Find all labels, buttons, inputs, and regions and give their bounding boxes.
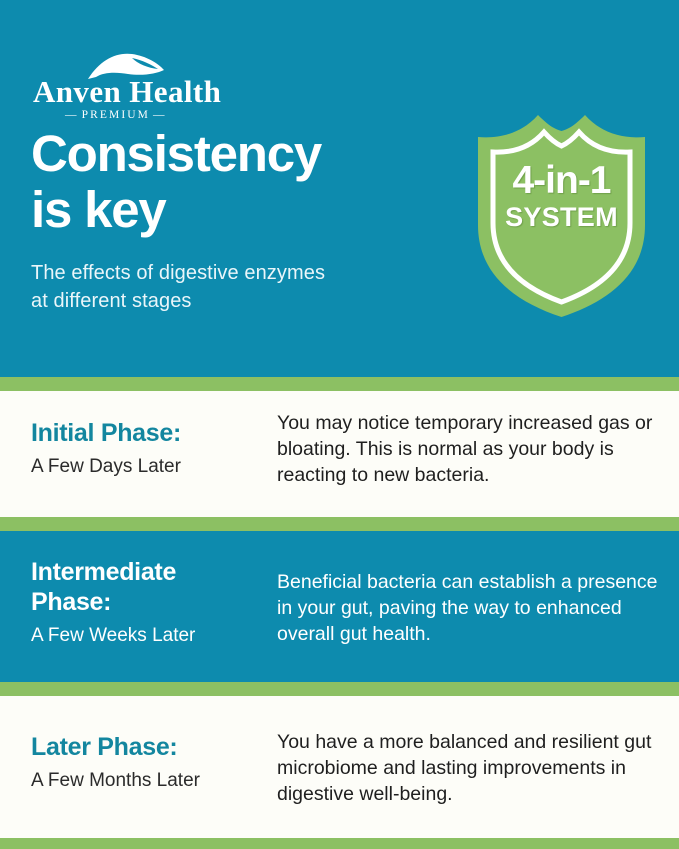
shield-badge: 4-in-1 SYSTEM [470,105,665,320]
phase-section-later: Later Phase: A Few Months Later You have… [0,696,679,838]
phase-section-intermediate: Intermediate Phase: A Few Weeks Later Be… [0,531,679,682]
brand-tagline: —PREMIUM— [62,109,170,121]
page-subtitle: The effects of digestive enzymes at diff… [31,259,431,315]
page-title-line-2: is key [31,182,431,238]
badge-main-label: 4-in-1 [470,160,653,202]
badge-sub-label: SYSTEM [470,202,653,232]
divider-band-1 [0,377,679,391]
tagline-text: PREMIUM [82,109,150,121]
divider-band-3 [0,682,679,696]
page-title-line-1: Consistency [31,126,431,182]
hero-banner: Anven Health —PREMIUM— Consistency is ke… [0,0,679,377]
phase-timeframe: A Few Days Later [31,455,266,479]
divider-band-2 [0,517,679,531]
divider-band-bottom [0,838,679,849]
phase-title: Intermediate Phase: [31,557,266,617]
badge-text: 4-in-1 SYSTEM [470,160,653,232]
phase-description: You may notice temporary increased gas o… [277,410,659,488]
phase-title: Later Phase: [31,732,266,762]
page-subtitle-line-1: The effects of digestive enzymes [31,259,431,287]
phase-description: Beneficial bacteria can establish a pres… [277,569,659,647]
page-subtitle-line-2: at different stages [31,287,431,315]
phase-timeframe: A Few Weeks Later [31,624,266,648]
tagline-dash-right: — [150,109,170,121]
phase-description: You have a more balanced and resilient g… [277,729,659,807]
phase-timeframe: A Few Months Later [31,769,266,793]
phase-label-group: Intermediate Phase: A Few Weeks Later [31,557,266,648]
brand-name: Anven Health [33,74,221,110]
phase-label-group: Later Phase: A Few Months Later [31,732,266,793]
phase-title-line-2: Phase: [31,587,266,617]
page-title: Consistency is key [31,126,431,238]
phase-label-group: Initial Phase: A Few Days Later [31,418,266,479]
phase-title-line-1: Intermediate [31,557,266,587]
phase-section-initial: Initial Phase: A Few Days Later You may … [0,391,679,517]
tagline-dash-left: — [62,109,82,121]
phase-title: Initial Phase: [31,418,266,448]
